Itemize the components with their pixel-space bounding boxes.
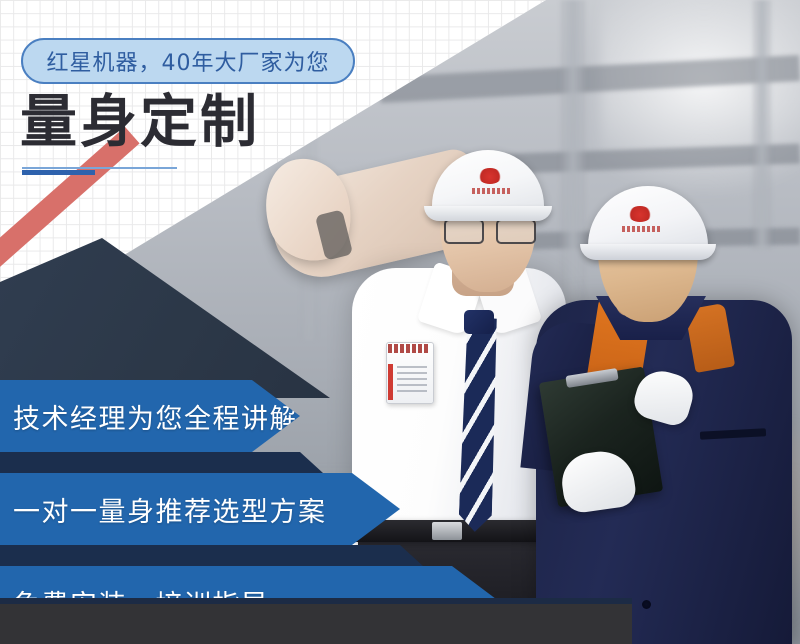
page-title: 量身定制 (20, 94, 260, 151)
support-pillar-icon (560, 0, 586, 300)
helmet-logo-text (472, 188, 512, 194)
helmet-red-logo-icon (478, 168, 502, 184)
id-badge-header (388, 344, 430, 353)
feature-bar-shadow (0, 545, 423, 566)
helmet-logo-text (622, 226, 662, 232)
feature-item-2[interactable]: 一对一量身推荐选型方案 (0, 473, 400, 545)
feature-item-1[interactable]: 技术经理为您全程讲解 (0, 380, 300, 452)
feature-item-1-label: 技术经理为您全程讲解 (0, 397, 298, 436)
glasses-bridge-icon (444, 218, 534, 239)
helmet-red-logo-icon (628, 206, 652, 222)
feature-bar-shadow (0, 452, 323, 473)
tagline-badge: 红星机器，40年大厂家为您 (21, 38, 355, 84)
tagline-badge-label: 红星机器，40年大厂家为您 (47, 45, 330, 77)
title-underline-thick (22, 170, 95, 175)
hard-hat-brim (580, 244, 716, 260)
hard-hat-brim (424, 206, 552, 221)
feature-item-2-label: 一对一量身推荐选型方案 (0, 490, 327, 529)
support-pillar-icon (752, 0, 772, 250)
engineer-tie-knot (464, 310, 494, 334)
title-underline-thin (22, 167, 177, 169)
bottom-strip (0, 604, 632, 644)
promotional-banner: 红星机器，40年大厂家为您 量身定制 技术经理为您全程讲解 一对一量身推荐选型方… (0, 0, 800, 644)
